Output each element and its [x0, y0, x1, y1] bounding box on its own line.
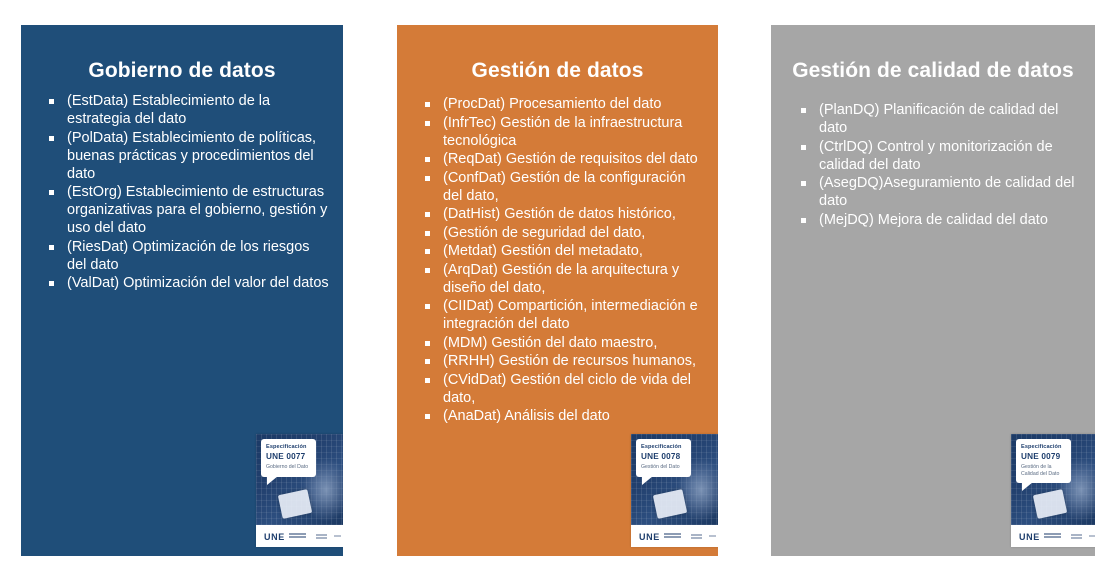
une-logo-subtext-icon — [664, 533, 681, 535]
square-bullet-icon — [425, 359, 430, 364]
list-item-label: (ArqDat) Gestión de la arquitectura y di… — [443, 262, 679, 296]
list-item: (EstData) Establecimiento de la estrateg… — [45, 92, 329, 128]
cover-footer-mark-secondary-icon — [709, 535, 716, 537]
une-spec-cover-0077: Especificación UNE 0077 Gobierno del Dat… — [256, 434, 343, 547]
list-item-label: (Gestión de seguridad del dato, — [443, 225, 645, 241]
list-item-label: (ProcDat) Procesamiento del dato — [443, 96, 661, 112]
list-item-label: (CVidDat) Gestión del ciclo de vida del … — [443, 372, 691, 406]
cover-spec-subtitle: Gestión del Dato — [641, 464, 687, 471]
list-item: (ReqDat) Gestión de requisitos del dato — [421, 150, 702, 168]
list-item-label: (PolData) Establecimiento de políticas, … — [67, 130, 316, 182]
list-item-label: (DatHist) Gestión de datos histórico, — [443, 206, 676, 222]
cover-spec-code: UNE 0077 — [266, 452, 312, 462]
list-item-label: (InfrTec) Gestión de la infraestructura … — [443, 115, 682, 149]
cover-spec-code: UNE 0079 — [1021, 452, 1067, 462]
une-logo: UNE — [639, 532, 660, 542]
square-bullet-icon — [801, 145, 806, 150]
square-bullet-icon — [49, 99, 54, 104]
cover-footer-mark-icon — [316, 534, 327, 536]
cover-spec-subtitle: Gobierno del Dato — [266, 464, 312, 471]
list-item-label: (ReqDat) Gestión de requisitos del dato — [443, 151, 698, 167]
list-item-label: (MejDQ) Mejora de calidad del dato — [819, 212, 1048, 228]
list-item-label: (EstData) Establecimiento de la estrateg… — [67, 93, 270, 127]
bullet-list-management: (ProcDat) Procesamiento del dato (InfrTe… — [421, 95, 702, 426]
panel-title-management: Gestión de datos — [397, 59, 718, 83]
une-logo: UNE — [1019, 532, 1040, 542]
square-bullet-icon — [49, 136, 54, 141]
square-bullet-icon — [425, 378, 430, 383]
une-spec-cover-0079: Especificación UNE 0079 Gestión de la Ca… — [1011, 434, 1095, 547]
cover-speech-bubble: Especificación UNE 0077 Gobierno del Dat… — [261, 439, 316, 477]
une-logo-subtext-icon — [1044, 533, 1061, 535]
cover-spec-label: Especificación — [1021, 444, 1067, 451]
list-item: (ValDat) Optimización del valor del dato… — [45, 274, 329, 292]
list-item: (EstOrg) Establecimiento de estructuras … — [45, 183, 329, 237]
list-item: (Metdat) Gestión del metadato, — [421, 242, 702, 260]
panel-gestion-de-datos: Gestión de datos (ProcDat) Procesamiento… — [397, 25, 718, 556]
cover-spec-subtitle: Gestión de la Calidad del Dato — [1021, 464, 1067, 477]
une-spec-cover-0078: Especificación UNE 0078 Gestión del Dato… — [631, 434, 718, 547]
square-bullet-icon — [425, 157, 430, 162]
list-item: (AsegDQ)Aseguramiento de calidad del dat… — [797, 174, 1079, 210]
cover-footer-mark-secondary-icon — [334, 535, 341, 537]
list-item-label: (MDM) Gestión del dato maestro, — [443, 335, 657, 351]
square-bullet-icon — [801, 218, 806, 223]
list-item-label: (RiesDat) Optimización de los riesgos de… — [67, 239, 310, 273]
square-bullet-icon — [425, 268, 430, 273]
square-bullet-icon — [425, 249, 430, 254]
une-logo-subtext-icon — [289, 533, 306, 535]
list-item: (PlanDQ) Planificación de calidad del da… — [797, 101, 1079, 137]
list-item: (CIIDat) Compartición, intermediación e … — [421, 297, 702, 333]
cover-spec-label: Especificación — [266, 444, 312, 451]
list-item: (RiesDat) Optimización de los riesgos de… — [45, 238, 329, 274]
list-item-label: (RRHH) Gestión de recursos humanos, — [443, 353, 696, 369]
list-item: (AnaDat) Análisis del dato — [421, 407, 702, 425]
square-bullet-icon — [425, 231, 430, 236]
square-bullet-icon — [425, 102, 430, 107]
square-bullet-icon — [801, 108, 806, 113]
list-item: (MDM) Gestión del dato maestro, — [421, 334, 702, 352]
cover-speech-bubble: Especificación UNE 0078 Gestión del Dato — [636, 439, 691, 477]
slide-canvas: Gobierno de datos (EstData) Establecimie… — [0, 0, 1116, 580]
list-item-label: (ValDat) Optimización del valor del dato… — [67, 275, 329, 291]
bullet-list-quality: (PlanDQ) Planificación de calidad del da… — [797, 101, 1079, 229]
list-item: (ProcDat) Procesamiento del dato — [421, 95, 702, 113]
panel-gestion-de-calidad-de-datos: Gestión de calidad de datos (PlanDQ) Pla… — [771, 25, 1095, 556]
square-bullet-icon — [425, 414, 430, 419]
list-item: (CtrlDQ) Control y monitorización de cal… — [797, 138, 1079, 174]
cover-footer-mark-secondary-icon — [1089, 535, 1095, 537]
square-bullet-icon — [49, 245, 54, 250]
list-item: (ArqDat) Gestión de la arquitectura y di… — [421, 261, 702, 297]
panel-title-governance: Gobierno de datos — [21, 59, 343, 83]
cover-footer: UNE — [1011, 525, 1095, 547]
cover-footer: UNE — [256, 525, 343, 547]
list-item: (CVidDat) Gestión del ciclo de vida del … — [421, 371, 702, 407]
square-bullet-icon — [425, 212, 430, 217]
list-item: (PolData) Establecimiento de políticas, … — [45, 129, 329, 183]
list-item: (MejDQ) Mejora de calidad del dato — [797, 211, 1079, 229]
list-item-label: (Metdat) Gestión del metadato, — [443, 243, 643, 259]
list-item-label: (ConfDat) Gestión de la configuración de… — [443, 170, 686, 204]
list-item: (Gestión de seguridad del dato, — [421, 224, 702, 242]
cover-footer-mark-icon — [1071, 534, 1082, 536]
list-item-label: (PlanDQ) Planificación de calidad del da… — [819, 102, 1058, 136]
cover-spec-code: UNE 0078 — [641, 452, 687, 462]
panel-gobierno-de-datos: Gobierno de datos (EstData) Establecimie… — [21, 25, 343, 556]
list-item-label: (EstOrg) Establecimiento de estructuras … — [67, 184, 327, 236]
cover-footer: UNE — [631, 525, 718, 547]
list-item-label: (AnaDat) Análisis del dato — [443, 408, 610, 424]
list-item-label: (CIIDat) Compartición, intermediación e … — [443, 298, 698, 332]
list-item: (DatHist) Gestión de datos histórico, — [421, 205, 702, 223]
cover-spec-label: Especificación — [641, 444, 687, 451]
square-bullet-icon — [425, 304, 430, 309]
une-logo: UNE — [264, 532, 285, 542]
square-bullet-icon — [49, 281, 54, 286]
list-item: (InfrTec) Gestión de la infraestructura … — [421, 114, 702, 150]
list-item-label: (AsegDQ)Aseguramiento de calidad del dat… — [819, 175, 1075, 209]
square-bullet-icon — [425, 176, 430, 181]
square-bullet-icon — [49, 190, 54, 195]
square-bullet-icon — [801, 181, 806, 186]
list-item: (RRHH) Gestión de recursos humanos, — [421, 352, 702, 370]
panel-title-quality: Gestión de calidad de datos — [771, 59, 1095, 83]
square-bullet-icon — [425, 121, 430, 126]
list-item-label: (CtrlDQ) Control y monitorización de cal… — [819, 139, 1053, 173]
square-bullet-icon — [425, 341, 430, 346]
cover-speech-bubble: Especificación UNE 0079 Gestión de la Ca… — [1016, 439, 1071, 483]
bullet-list-governance: (EstData) Establecimiento de la estrateg… — [45, 92, 329, 293]
list-item: (ConfDat) Gestión de la configuración de… — [421, 169, 702, 205]
cover-footer-mark-icon — [691, 534, 702, 536]
